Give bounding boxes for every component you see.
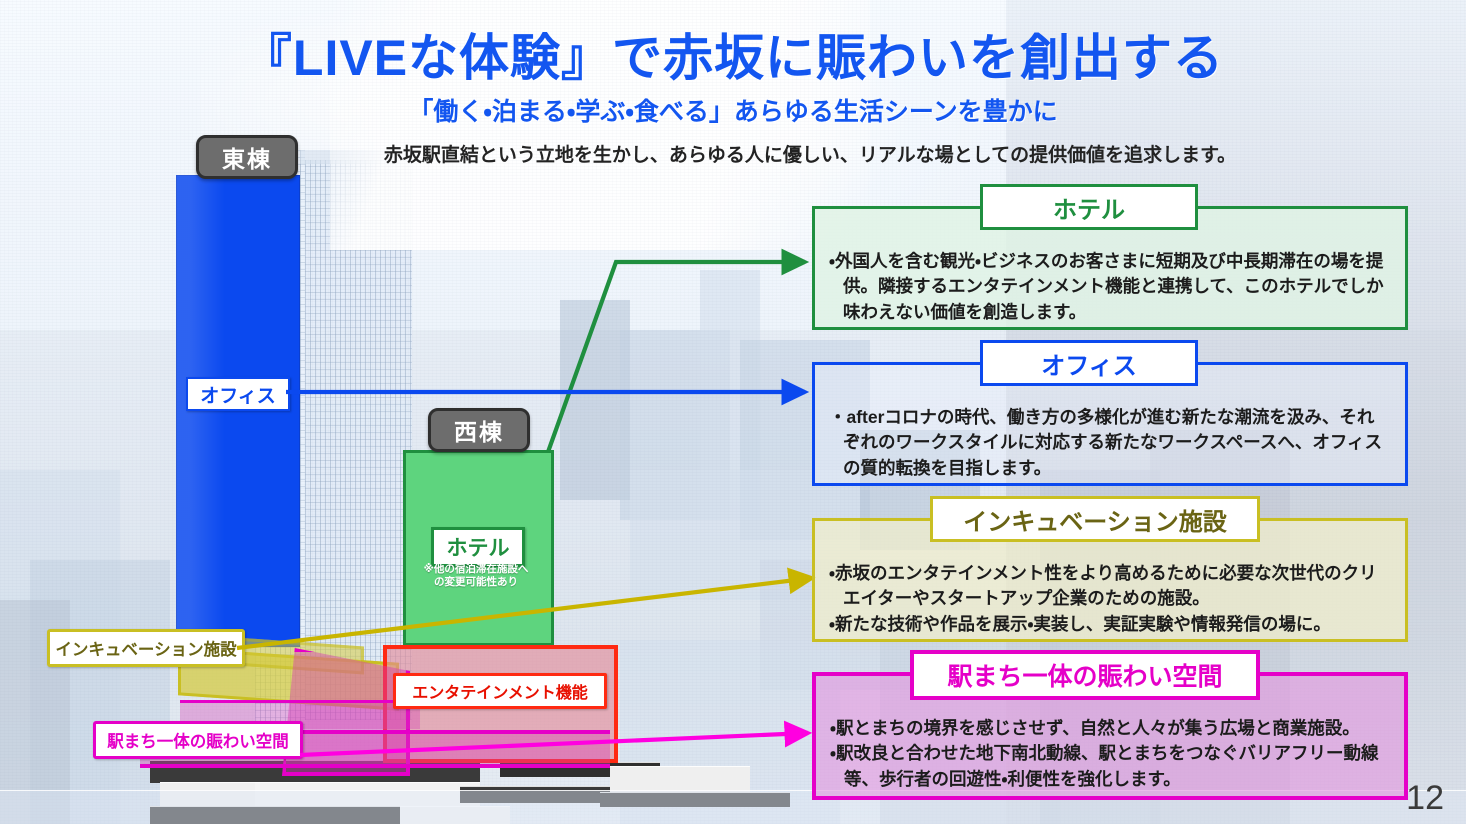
diagram-label-incubation: インキュベーション施設 <box>47 629 245 667</box>
callout-incubation: ・赤坂のエンタテインメント性をより高めるために必要な次世代のクリエイターやスター… <box>812 518 1408 642</box>
diagram-label-incubation-text: インキュベーション施設 <box>55 636 236 660</box>
callout-office-bullet-1: ・afterコロナの時代、働き方の多様化が進む新たな潮流を汲み、それぞれのワーク… <box>829 405 1391 481</box>
callout-hotel-list: ・外国人を含む観光・ビジネスのお客さまに短期及び中長期滞在の場を提供。隣接するエ… <box>829 249 1391 325</box>
diagram-label-hotel-text: ホテル <box>447 532 510 562</box>
slide-canvas: 東棟 西棟 オフィス ホテル ※他の宿泊滞在施設へ の変更可能性あり インキュベ… <box>0 0 1466 824</box>
callout-office-list: ・afterコロナの時代、働き方の多様化が進む新たな潮流を汲み、それぞれのワーク… <box>829 405 1391 481</box>
callout-hotel: ・外国人を含む観光・ビジネスのお客さまに短期及び中長期滞在の場を提供。隣接するエ… <box>812 206 1408 330</box>
hotel-change-note-line2: の変更可能性あり <box>410 576 542 589</box>
callout-incubation-heading-text: インキュベーション施設 <box>963 502 1227 537</box>
callout-station-town-heading: 駅まち一体の賑わい空間 <box>910 650 1260 700</box>
hotel-change-note-line1: ※他の宿泊滞在施設へ <box>410 563 542 576</box>
callout-incubation-bullet-1: ・赤坂のエンタテインメント性をより高めるために必要な次世代のクリエイターやスター… <box>829 561 1391 612</box>
diagram-label-station-town: 駅まち一体の賑わい空間 <box>93 721 303 759</box>
diagram-label-station-town-text: 駅まち一体の賑わい空間 <box>107 728 289 752</box>
callout-hotel-heading-text: ホテル <box>1053 190 1125 225</box>
diagram-label-entertainment: エンタテインメント機能 <box>393 673 607 709</box>
callout-office-heading-text: オフィス <box>1041 346 1137 381</box>
callout-station-town-bullet-2: ・駅改良と合わせた地下南北動線、駅とまちをつなぐバリアフリー動線等、歩行者の回遊… <box>830 741 1390 792</box>
page-subtitle: 「働く・泊まる・学ぶ・食べる」あらゆる生活シーンを豊かに <box>0 92 1466 128</box>
page-lede: 赤坂駅直結という立地を生かし、あらゆる人に優しい、リアルな場としての提供価値を追… <box>280 140 1340 167</box>
east-tower-tag-label: 東棟 <box>222 140 272 174</box>
callout-incubation-list: ・赤坂のエンタテインメント性をより高めるために必要な次世代のクリエイターやスター… <box>829 561 1391 637</box>
callout-station-town-heading-text: 駅まち一体の賑わい空間 <box>947 657 1222 693</box>
diagram-label-entertainment-text: エンタテインメント機能 <box>412 679 588 703</box>
diagram-label-hotel: ホテル <box>431 527 525 567</box>
callout-incubation-heading: インキュベーション施設 <box>930 496 1260 542</box>
page-number: 12 <box>1406 779 1444 818</box>
podium-slab <box>610 766 750 793</box>
diagram-label-office-text: オフィス <box>200 381 276 408</box>
callout-office: ・afterコロナの時代、働き方の多様化が進む新たな潮流を汲み、それぞれのワーク… <box>812 362 1408 486</box>
page-title: 『LIVEな体験』で赤坂に賑わいを創出する <box>0 18 1466 90</box>
callout-station-town-bullet-1: ・駅とまちの境界を感じさせず、自然と人々が集う広場と商業施設。 <box>830 716 1390 741</box>
callout-hotel-heading: ホテル <box>980 184 1198 230</box>
callout-incubation-bullet-2: ・新たな技術や作品を展示・実装し、実証実験や情報発信の場に。 <box>829 612 1391 637</box>
callout-station-town: ・駅とまちの境界を感じさせず、自然と人々が集う広場と商業施設。 ・駅改良と合わせ… <box>812 672 1408 800</box>
callout-station-town-list: ・駅とまちの境界を感じさせず、自然と人々が集う広場と商業施設。 ・駅改良と合わせ… <box>830 716 1390 792</box>
west-tower-tag-label: 西棟 <box>454 413 504 447</box>
west-tower-tag: 西棟 <box>428 408 530 452</box>
diagram-label-office: オフィス <box>186 377 290 411</box>
callout-hotel-bullet-1: ・外国人を含む観光・ビジネスのお客さまに短期及び中長期滞在の場を提供。隣接するエ… <box>829 249 1391 325</box>
hotel-change-note: ※他の宿泊滞在施設へ の変更可能性あり <box>410 563 542 589</box>
callout-office-heading: オフィス <box>980 340 1198 386</box>
